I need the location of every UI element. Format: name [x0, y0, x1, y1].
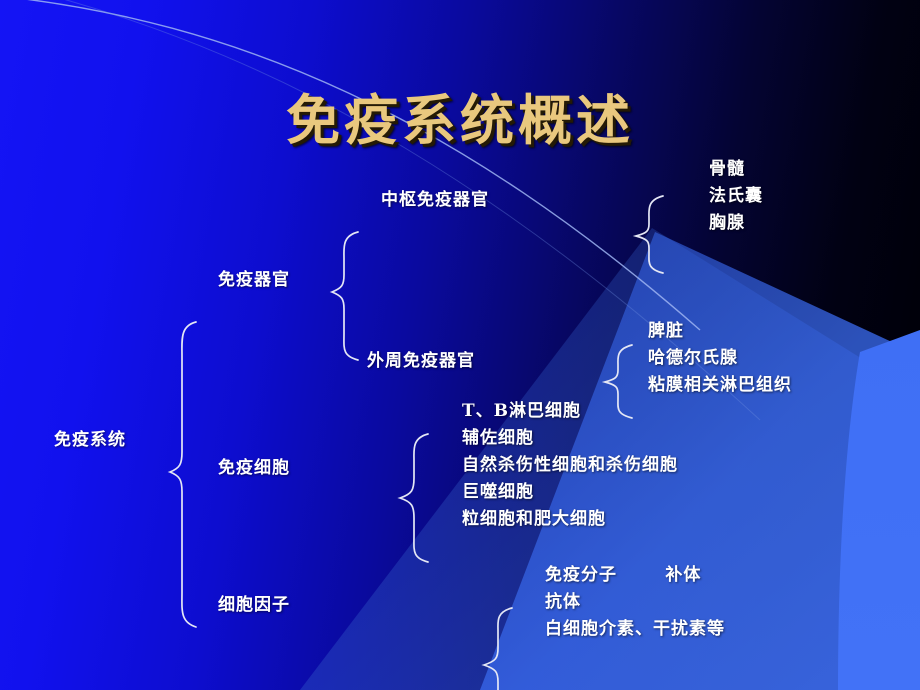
slide-canvas: 免疫系统概述 免疫系统 免疫器官 中枢免疫器官 外周免疫器官 免疫细胞 细胞因子…	[0, 0, 920, 690]
node-immune-organ: 免疫器官	[218, 265, 290, 290]
leaf-item: T、B淋巴细胞	[462, 398, 678, 425]
leaves-immune-cell: T、B淋巴细胞 辅佐细胞 自然杀伤性细胞和杀伤细胞 巨噬细胞 粒细胞和肥大细胞	[462, 398, 678, 533]
leaf-item: 骨髓	[709, 156, 763, 183]
leaf-item: 法氏囊	[709, 183, 763, 210]
leaves-cytokine: 免疫分子 补体 抗体 白细胞介素、干扰素等	[545, 562, 725, 643]
node-cytokine: 细胞因子	[218, 590, 290, 615]
page-title: 免疫系统概述	[0, 76, 920, 155]
brace-immune-organ	[332, 232, 358, 360]
leaf-item: 粘膜相关淋巴组织	[648, 372, 792, 399]
leaf-item: 辅佐细胞	[462, 425, 678, 452]
leaves-central-immune-organ: 骨髓 法氏囊 胸腺	[709, 156, 763, 237]
brace-root	[170, 322, 196, 627]
node-central-immune-organ: 中枢免疫器官	[381, 185, 489, 210]
leaf-item: 巨噬细胞	[462, 479, 678, 506]
node-immune-cell: 免疫细胞	[218, 453, 290, 478]
leaf-item: 脾脏	[648, 318, 792, 345]
leaf-item: 胸腺	[709, 210, 763, 237]
swoosh-arc	[0, 0, 700, 330]
node-root: 免疫系统	[54, 425, 126, 450]
node-peripheral-immune-organ: 外周免疫器官	[367, 346, 475, 371]
leaf-item: 抗体	[545, 589, 725, 616]
leaf-item: 免疫分子 补体	[545, 562, 725, 589]
leaf-item: 哈德尔氏腺	[648, 345, 792, 372]
leaf-item: 粒细胞和肥大细胞	[462, 506, 678, 533]
leaf-item: 白细胞介素、干扰素等	[545, 616, 725, 643]
leaves-peripheral-immune-organ: 脾脏 哈德尔氏腺 粘膜相关淋巴组织	[648, 318, 792, 399]
leaf-item: 自然杀伤性细胞和杀伤细胞	[462, 452, 678, 479]
